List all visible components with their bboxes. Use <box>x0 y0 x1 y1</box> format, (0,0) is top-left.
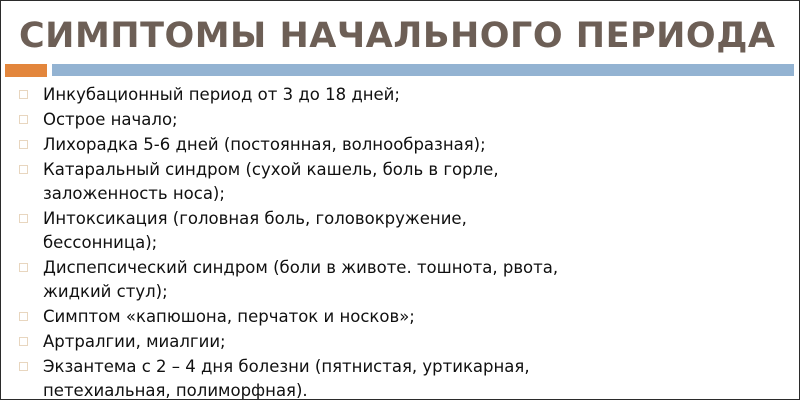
hollow-square-bullet-icon <box>19 337 28 346</box>
list-item: Диспепсический синдром (боли в животе. т… <box>15 256 789 304</box>
blue-rule-bar <box>52 64 794 76</box>
hollow-square-bullet-icon <box>19 165 28 174</box>
list-item: Инкубационный период от 3 до 18 дней; <box>15 83 789 107</box>
list-item: Симптом «капюшона, перчаток и носков»; <box>15 305 789 329</box>
list-item-label: Инкубационный период от 3 до 18 дней; <box>43 83 789 107</box>
title-divider <box>1 64 800 77</box>
list-item-label: Интоксикация (головная боль, головокруже… <box>43 207 789 255</box>
list-item: Катаральный синдром (сухой кашель, боль … <box>15 158 789 206</box>
hollow-square-bullet-icon <box>19 90 28 99</box>
list-item-label: Лихорадка 5-6 дней (постоянная, волнообр… <box>43 133 789 157</box>
hollow-square-bullet-icon <box>19 312 28 321</box>
page-title: СИМПТОМЫ НАЧАЛЬНОГО ПЕРИОДА <box>19 15 785 57</box>
hollow-square-bullet-icon <box>19 140 28 149</box>
list-item-label: Артралгии, миалгии; <box>43 330 789 354</box>
hollow-square-bullet-icon <box>19 362 28 371</box>
hollow-square-bullet-icon <box>19 214 28 223</box>
title-block: СИМПТОМЫ НАЧАЛЬНОГО ПЕРИОДА <box>19 15 785 59</box>
list-item-label: Симптом «капюшона, перчаток и носков»; <box>43 305 789 329</box>
list-item-label: Диспепсический синдром (боли в животе. т… <box>43 256 789 304</box>
hollow-square-bullet-icon <box>19 263 28 272</box>
list-item: Экзантема с 2 – 4 дня болезни (пятнистая… <box>15 355 789 400</box>
list-item-label: Катаральный синдром (сухой кашель, боль … <box>43 158 789 206</box>
list-item: Лихорадка 5-6 дней (постоянная, волнообр… <box>15 133 789 157</box>
list-item: Артралгии, миалгии; <box>15 330 789 354</box>
list-item: Острое начало; <box>15 108 789 132</box>
orange-accent-block <box>5 64 47 77</box>
list-item-label: Экзантема с 2 – 4 дня болезни (пятнистая… <box>43 355 789 400</box>
list-item: Интоксикация (головная боль, головокруже… <box>15 207 789 255</box>
presentation-slide: СИМПТОМЫ НАЧАЛЬНОГО ПЕРИОДА Инкубационны… <box>0 0 800 400</box>
symptom-list: Инкубационный период от 3 до 18 дней; Ос… <box>15 83 789 400</box>
list-item-label: Острое начало; <box>43 108 789 132</box>
hollow-square-bullet-icon <box>19 115 28 124</box>
